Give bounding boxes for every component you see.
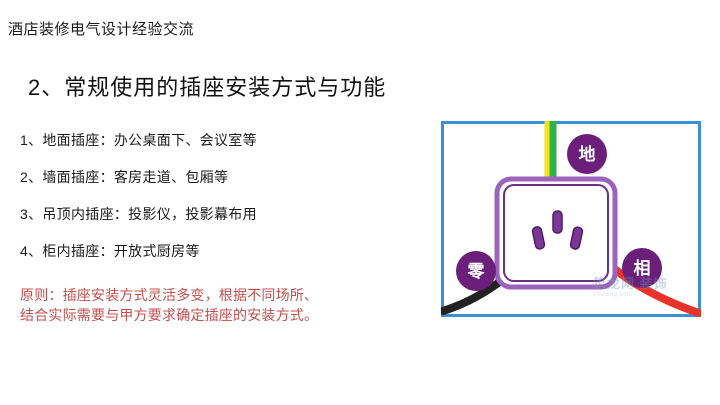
- section-heading: 2、常规使用的插座安装方式与功能: [28, 74, 386, 102]
- ground-wire-label-text: 地: [579, 144, 596, 165]
- ground-wire-label: 地: [567, 134, 607, 174]
- list-item: 3、吊顶内插座：投影仪，投影幕布用: [20, 205, 420, 242]
- header-title: 酒店装修电气设计经验交流: [8, 21, 194, 39]
- neutral-wire-label-text: 零: [467, 262, 486, 282]
- socket-wiring-figure: 地 零 相 筑龙网 装饰 zhulong.com: [441, 121, 701, 317]
- principle-line-1: 原则：插座安装方式灵活多变，根据不同场所、: [20, 285, 410, 305]
- phase-wire-label: 相: [622, 248, 662, 288]
- phase-wire-label-text: 相: [634, 258, 651, 279]
- bullet-list: 1、地面插座：办公桌面下、会议室等 2、墙面插座：客房走道、包厢等 3、吊顶内插…: [20, 131, 420, 279]
- list-item: 1、地面插座：办公桌面下、会议室等: [20, 131, 420, 168]
- principle-note: 原则：插座安装方式灵活多变，根据不同场所、 结合实际需要与甲方要求确定插座的安装…: [20, 285, 410, 325]
- slide-canvas: 酒店装修电气设计经验交流 2、常规使用的插座安装方式与功能 1、地面插座：办公桌…: [0, 0, 720, 405]
- list-item: 2、墙面插座：客房走道、包厢等: [20, 168, 420, 205]
- list-item: 4、柜内插座：开放式厨房等: [20, 242, 420, 279]
- principle-line-2: 结合实际需要与甲方要求确定插座的安装方式。: [20, 305, 410, 325]
- socket-wiring-diagram: 地 零 相: [441, 121, 701, 317]
- ground-terminal: [553, 211, 562, 233]
- neutral-wire-label: 零: [456, 251, 496, 291]
